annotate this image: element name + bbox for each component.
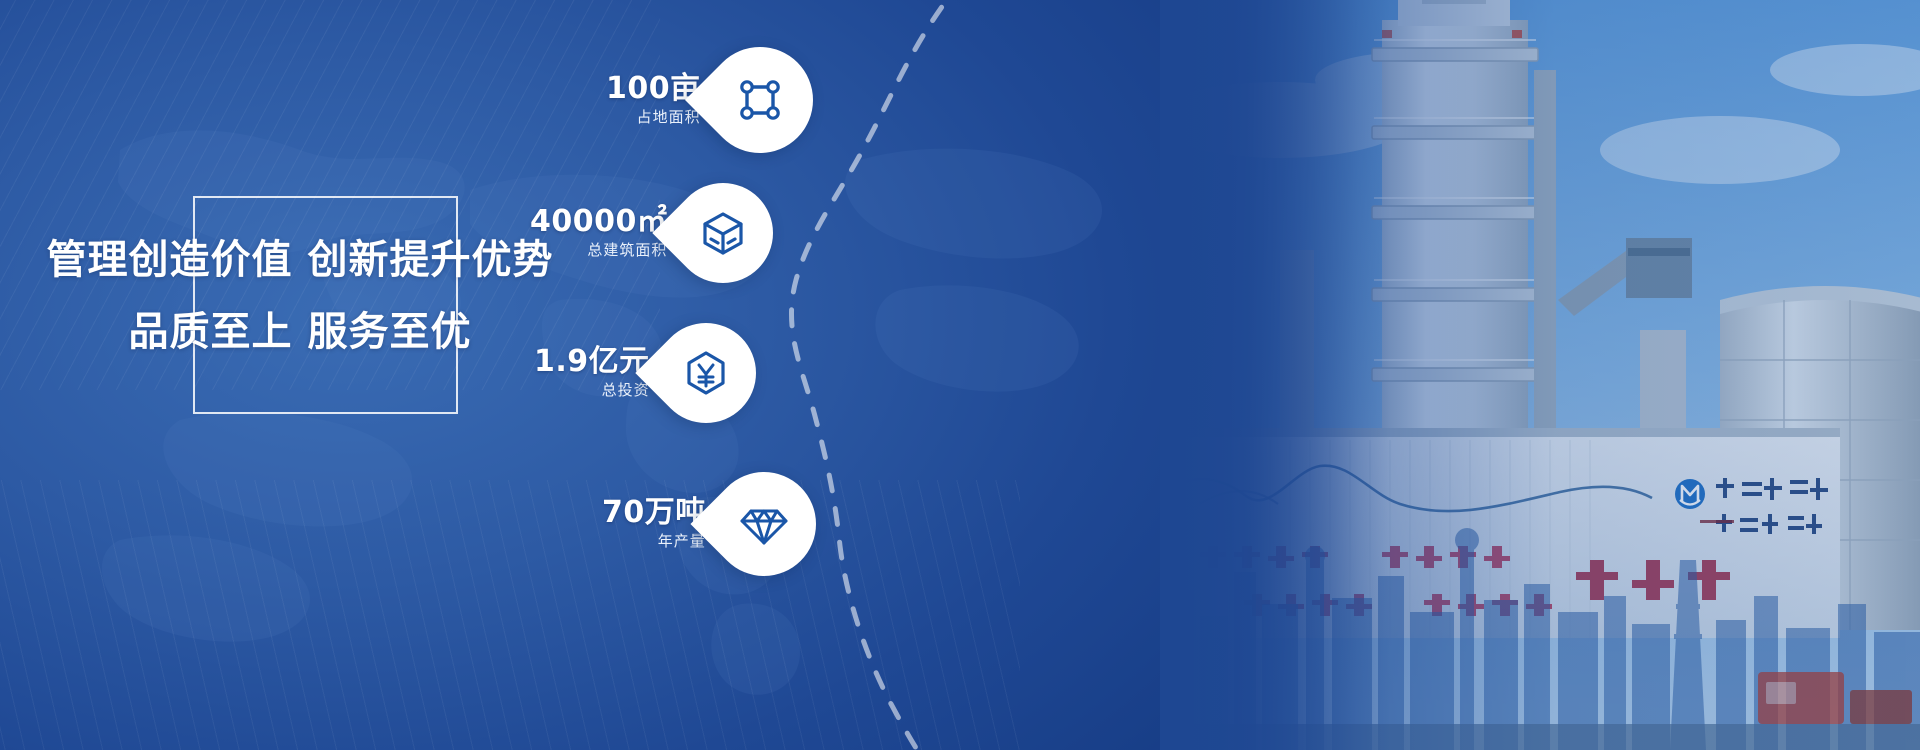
slogan-line-2: 品质至上 服务至优 [40, 312, 560, 352]
stat-value: 1.9亿元 [534, 346, 650, 378]
stat-caption: 总投资 [534, 381, 650, 401]
slogan-block: 管理创造价值 创新提升优势 品质至上 服务至优 [40, 196, 560, 426]
stat-pin[interactable] [707, 47, 813, 153]
land-area-icon [707, 47, 813, 153]
diamond-icon [712, 472, 816, 576]
stat-value: 40000㎡ [530, 206, 667, 238]
stat-marker-annual-output[interactable]: 70万吨 年产量 [602, 472, 816, 576]
stat-marker-total-investment[interactable]: 1.9亿元 总投资 [534, 323, 756, 423]
cube-box-icon [673, 183, 773, 283]
diagonal-hairline-decoration-bottom [0, 480, 1020, 750]
stat-pin[interactable] [712, 472, 816, 576]
stat-caption: 占地面积 [606, 108, 701, 128]
slogan-text: 管理创造价值 创新提升优势 品质至上 服务至优 [40, 240, 560, 352]
stat-caption: 总建筑面积 [530, 241, 667, 261]
stat-pin[interactable] [656, 323, 756, 423]
yuan-hexagon-icon [656, 323, 756, 423]
stat-pin[interactable] [673, 183, 773, 283]
slogan-line-1: 管理创造价值 创新提升优势 [40, 240, 560, 280]
photo-left-feather [1160, 0, 1390, 750]
stat-marker-building-area[interactable]: 40000㎡ 总建筑面积 [530, 183, 773, 283]
factory-photo [1160, 0, 1920, 750]
company-hero-banner: 管理创造价值 创新提升优势 品质至上 服务至优 100亩 占地面积 [0, 0, 1920, 750]
stat-marker-land-area[interactable]: 100亩 占地面积 [606, 47, 813, 153]
stat-caption: 年产量 [602, 532, 706, 552]
